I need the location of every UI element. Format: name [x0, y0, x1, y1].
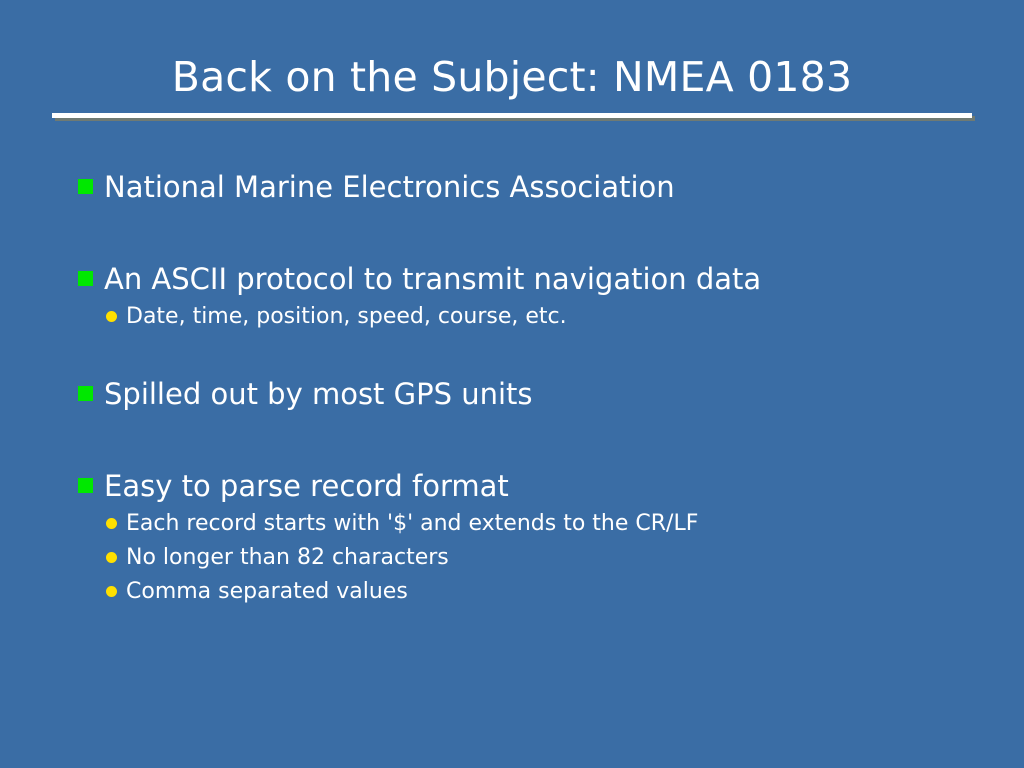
- bullet-level2-label: Each record starts with '$' and extends …: [126, 507, 698, 540]
- bullet-level1: Spilled out by most GPS units: [78, 375, 978, 413]
- green-square-bullet-icon: [78, 271, 93, 286]
- bullet-sublist: Date, time, position, speed, course, etc…: [106, 300, 978, 333]
- yellow-dot-bullet-icon: [106, 311, 117, 322]
- slide-title: Back on the Subject: NMEA 0183: [0, 52, 1024, 102]
- bullet-level1: National Marine Electronics Association: [78, 168, 978, 206]
- green-square-bullet-icon: [78, 478, 93, 493]
- bullet-level2: Date, time, position, speed, course, etc…: [106, 300, 978, 333]
- title-divider-rule: [52, 113, 972, 118]
- yellow-dot-bullet-icon: [106, 518, 117, 529]
- bullet-group: An ASCII protocol to transmit navigation…: [78, 260, 978, 333]
- bullet-level1: An ASCII protocol to transmit navigation…: [78, 260, 978, 298]
- slide-bullet-list: National Marine Electronics Association …: [78, 168, 978, 609]
- yellow-dot-bullet-icon: [106, 552, 117, 563]
- bullet-level1-label: Easy to parse record format: [104, 467, 509, 505]
- bullet-level1-label: Spilled out by most GPS units: [104, 375, 533, 413]
- bullet-level1-label: National Marine Electronics Association: [104, 168, 675, 206]
- green-square-bullet-icon: [78, 179, 93, 194]
- bullet-level2: Each record starts with '$' and extends …: [106, 507, 978, 540]
- bullet-level1: Easy to parse record format: [78, 467, 978, 505]
- bullet-level2: No longer than 82 characters: [106, 541, 978, 574]
- presentation-slide: Back on the Subject: NMEA 0183 National …: [0, 0, 1024, 768]
- slide-title-block: Back on the Subject: NMEA 0183: [0, 52, 1024, 102]
- green-square-bullet-icon: [78, 386, 93, 401]
- bullet-level2-label: Date, time, position, speed, course, etc…: [126, 300, 567, 333]
- bullet-level2-label: No longer than 82 characters: [126, 541, 449, 574]
- bullet-group: Spilled out by most GPS units: [78, 375, 978, 413]
- bullet-level2: Comma separated values: [106, 575, 978, 608]
- bullet-level1-label: An ASCII protocol to transmit navigation…: [104, 260, 761, 298]
- bullet-level2-label: Comma separated values: [126, 575, 408, 608]
- bullet-group: Easy to parse record format Each record …: [78, 467, 978, 608]
- bullet-sublist: Each record starts with '$' and extends …: [106, 507, 978, 608]
- yellow-dot-bullet-icon: [106, 586, 117, 597]
- bullet-group: National Marine Electronics Association: [78, 168, 978, 206]
